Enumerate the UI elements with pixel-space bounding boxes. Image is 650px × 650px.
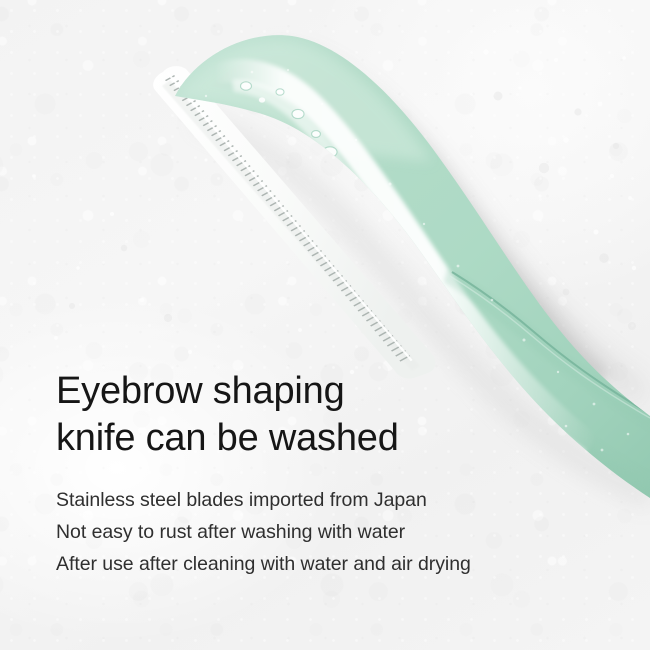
headline-line-2: knife can be washed bbox=[56, 415, 616, 462]
feature-item: After use after cleaning with water and … bbox=[56, 548, 616, 580]
feature-list: Stainless steel blades imported from Jap… bbox=[56, 484, 616, 580]
headline-line-1: Eyebrow shaping bbox=[56, 368, 616, 415]
feature-item: Not easy to rust after washing with wate… bbox=[56, 516, 616, 548]
marketing-copy: Eyebrow shaping knife can be washed Stai… bbox=[56, 368, 616, 580]
product-image: Eyebrow shaping knife can be washed Stai… bbox=[0, 0, 650, 650]
feature-item: Stainless steel blades imported from Jap… bbox=[56, 484, 616, 516]
